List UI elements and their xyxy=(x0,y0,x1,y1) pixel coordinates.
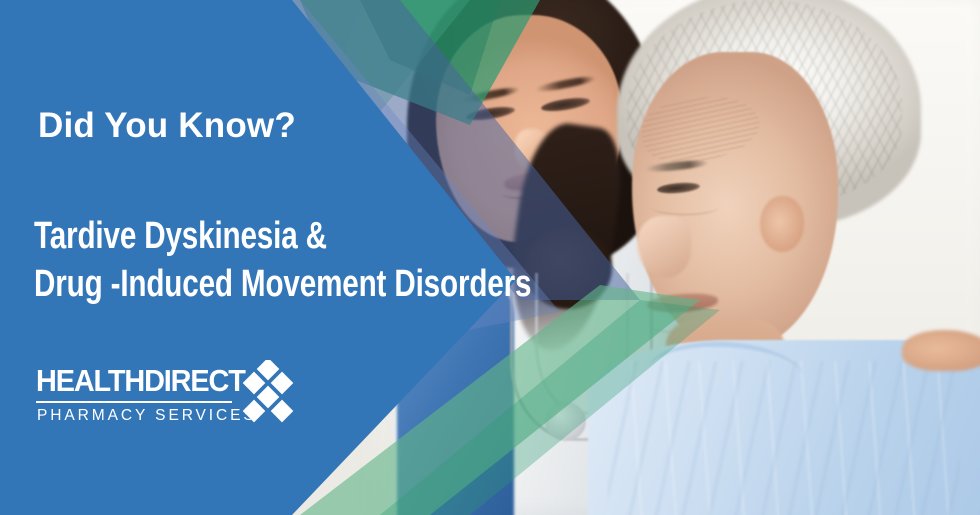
did-you-know-banner: Did You Know? Tardive Dyskinesia & Drug … xyxy=(0,0,980,515)
logo-row: HEALTHDIRECT PHARMACY SERVICES xyxy=(36,364,276,434)
headline-line-2: Drug -Induced Movement Disorders xyxy=(34,260,531,308)
healthdirect-logo[interactable]: HEALTHDIRECT PHARMACY SERVICES xyxy=(36,364,276,434)
logo-divider-rule xyxy=(36,401,232,403)
diamond-grid-logomark-icon xyxy=(236,360,302,432)
headline: Tardive Dyskinesia & Drug -Induced Movem… xyxy=(34,212,531,308)
headline-line-1: Tardive Dyskinesia & xyxy=(34,212,531,260)
logo-tagline: PHARMACY SERVICES xyxy=(37,406,257,426)
kicker-did-you-know: Did You Know? xyxy=(38,108,296,143)
logo-wordmark: HEALTHDIRECT xyxy=(36,364,245,398)
banner-content: Did You Know? Tardive Dyskinesia & Drug … xyxy=(0,0,520,515)
